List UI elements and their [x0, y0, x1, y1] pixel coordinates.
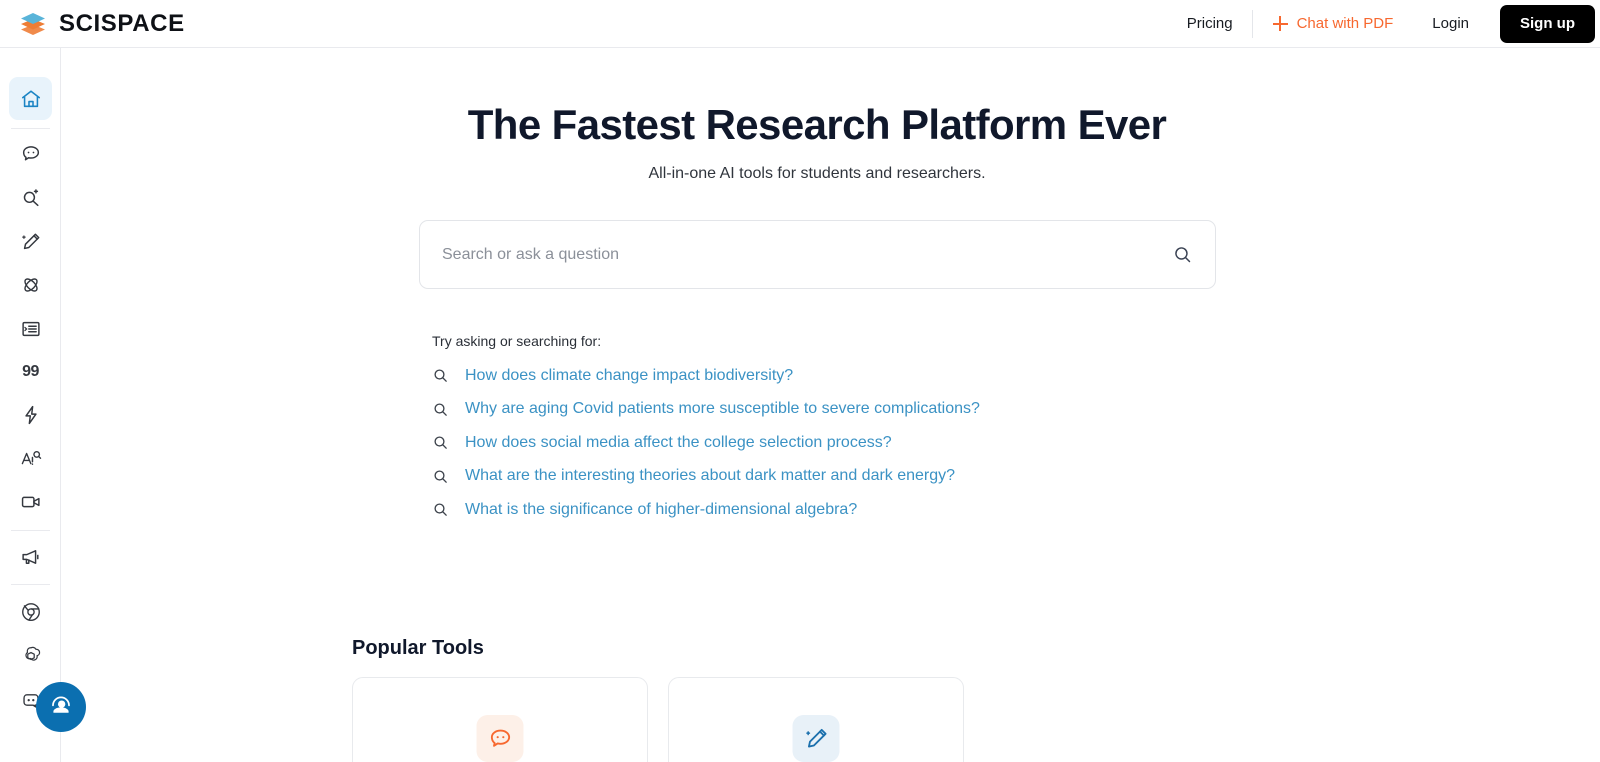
list-lines-icon	[20, 318, 42, 340]
nav-pricing[interactable]: Pricing	[1168, 15, 1252, 32]
video-camera-icon	[20, 491, 42, 513]
quotes-99-icon: 99	[22, 363, 39, 381]
tool-card-chat-pdf[interactable]	[352, 677, 648, 762]
sidebar-item-ai-writer[interactable]	[9, 263, 52, 306]
megaphone-icon	[20, 546, 42, 568]
lightning-bolt-icon	[20, 404, 42, 426]
search-icon	[432, 468, 449, 485]
support-chat-button[interactable]	[36, 682, 86, 732]
nav-chat-with-pdf-label: Chat with PDF	[1297, 15, 1394, 32]
chrome-icon	[20, 601, 42, 623]
sidebar-item-whats-new[interactable]	[9, 535, 52, 578]
brand-logo[interactable]: SCISPACE	[18, 9, 185, 39]
suggestion-label: Why are aging Covid patients more suscep…	[465, 400, 980, 418]
sidebar-item-ai-detector[interactable]	[9, 437, 52, 480]
header-nav: Pricing Chat with PDF Login Sign up	[1168, 0, 1600, 48]
brand-name: SCISPACE	[59, 10, 185, 38]
support-agent-icon	[48, 692, 74, 723]
main-content: The Fastest Research Platform Ever All-i…	[61, 48, 1600, 762]
pencil-sparkle-icon	[793, 715, 840, 762]
sidebar-item-paraphraser[interactable]	[9, 220, 52, 263]
a-magnifier-icon	[20, 448, 42, 470]
plus-icon	[1273, 16, 1288, 31]
nav-chat-with-pdf[interactable]: Chat with PDF	[1253, 15, 1414, 32]
scispace-home-page: SCISPACE Pricing Chat with PDF Login Sig…	[0, 0, 1600, 762]
home-icon	[20, 88, 42, 110]
top-header: SCISPACE Pricing Chat with PDF Login Sig…	[0, 0, 1600, 48]
search-input[interactable]	[420, 246, 1172, 264]
suggestion-item[interactable]: How does climate change impact biodivers…	[432, 359, 1332, 393]
search-icon	[432, 367, 449, 384]
sidebar-item-literature-review[interactable]	[9, 176, 52, 219]
scispace-stacked-layers-logo-icon	[18, 9, 48, 39]
sidebar-item-openai[interactable]	[9, 634, 52, 677]
search-icon	[432, 501, 449, 518]
tool-card-paraphraser[interactable]	[668, 677, 964, 762]
suggestion-label: How does social media affect the college…	[465, 434, 892, 452]
search-icon	[432, 434, 449, 451]
left-sidebar: 99	[0, 48, 61, 762]
atom-icon	[20, 274, 42, 296]
suggestion-label: What is the significance of higher-dimen…	[465, 501, 857, 519]
sidebar-item-chat[interactable]	[9, 132, 52, 175]
suggestion-item[interactable]: What are the interesting theories about …	[432, 460, 1332, 494]
pencil-sparkle-icon	[20, 231, 42, 253]
signup-button[interactable]: Sign up	[1500, 5, 1595, 43]
search-sparkle-icon	[20, 187, 42, 209]
chat-bubble-icon	[20, 143, 42, 165]
sidebar-item-citation-generator[interactable]: 99	[9, 350, 52, 393]
openai-icon	[20, 645, 42, 667]
page-subtitle: All-in-one AI tools for students and res…	[61, 165, 1573, 183]
suggestions-list: How does climate change impact biodivers…	[432, 359, 1332, 527]
sidebar-divider-1	[11, 128, 50, 129]
nav-login[interactable]: Login	[1413, 15, 1488, 32]
suggestion-item[interactable]: Why are aging Covid patients more suscep…	[432, 393, 1332, 427]
sidebar-item-extract-data[interactable]	[9, 307, 52, 350]
chat-bubble-icon	[477, 715, 524, 762]
sidebar-divider-2	[11, 530, 50, 531]
sidebar-item-home[interactable]	[9, 77, 52, 120]
suggestion-item[interactable]: How does social media affect the college…	[432, 426, 1332, 460]
sidebar-item-chrome-extension[interactable]	[9, 590, 52, 633]
suggestion-item[interactable]: What is the significance of higher-dimen…	[432, 493, 1332, 527]
suggestions-label: Try asking or searching for:	[432, 333, 601, 349]
sidebar-item-video[interactable]	[9, 480, 52, 523]
search-icon	[432, 401, 449, 418]
suggestion-label: What are the interesting theories about …	[465, 467, 955, 485]
popular-tools-title: Popular Tools	[352, 637, 484, 660]
search-icon[interactable]	[1172, 244, 1193, 265]
sidebar-divider-3	[11, 584, 50, 585]
search-bar[interactable]	[419, 220, 1216, 289]
suggestion-label: How does climate change impact biodivers…	[465, 367, 793, 385]
sidebar-item-ai-detector-fast[interactable]	[9, 393, 52, 436]
page-title: The Fastest Research Platform Ever	[61, 101, 1573, 149]
